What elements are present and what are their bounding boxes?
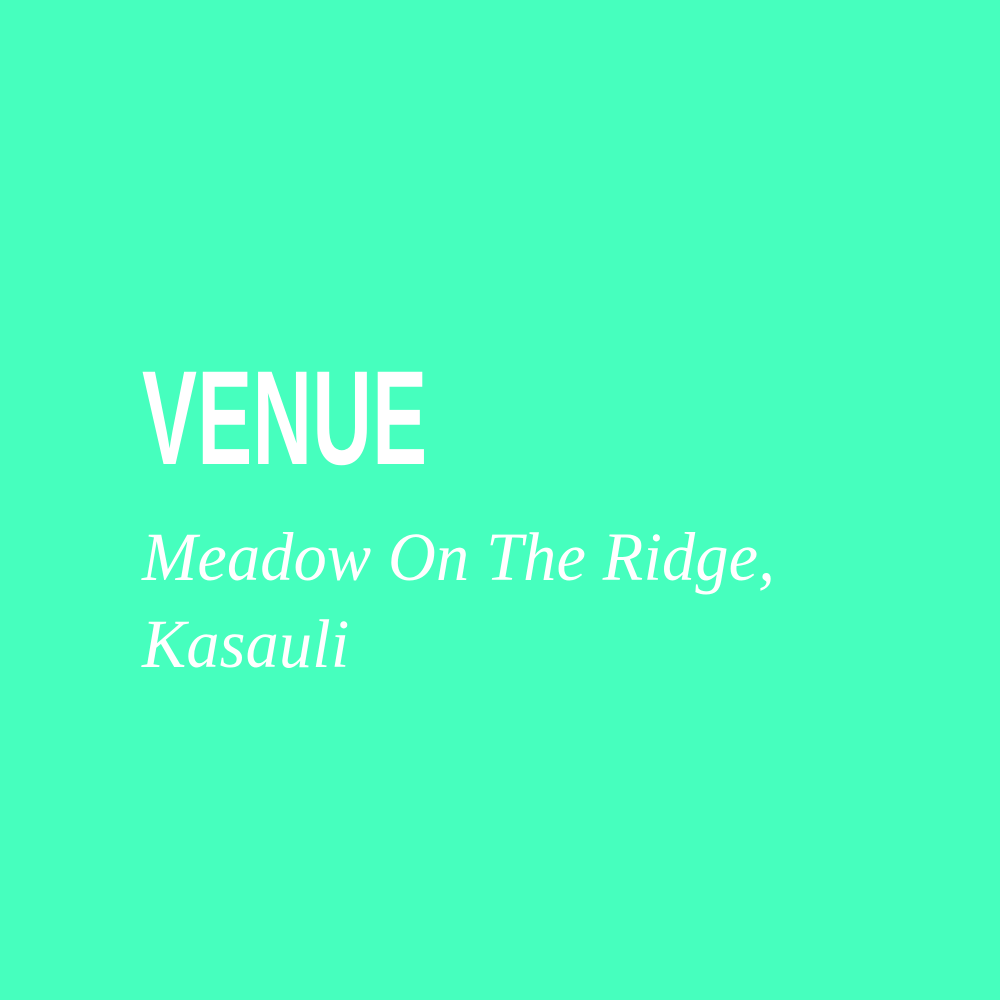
venue-subtitle-line-1: Meadow On The Ridge, — [142, 514, 872, 601]
page-title: VENUE — [142, 352, 609, 486]
venue-subtitle-line-2: Kasauli — [142, 601, 872, 688]
venue-subtitle: Meadow On The Ridge, Kasauli — [142, 514, 872, 688]
venue-slide: VENUE Meadow On The Ridge, Kasauli — [0, 0, 1000, 1000]
venue-text-block: VENUE Meadow On The Ridge, Kasauli — [142, 352, 902, 688]
